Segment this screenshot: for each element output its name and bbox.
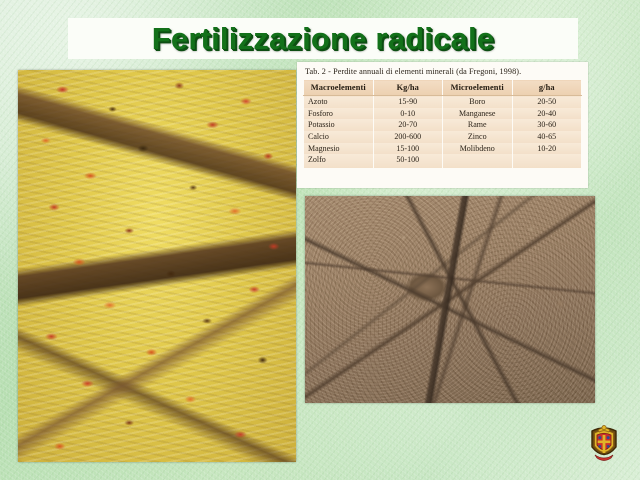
cell-macro: Calcio [304,131,374,143]
slide-canvas: Fertilizzazione radicale Tab. 2 - Perdit… [0,0,640,480]
table-row: Zolfo 50-100 [304,154,582,168]
cell-kgha: 200-600 [373,131,443,143]
cell-macro: Azoto [304,96,374,108]
column-header-macroelementi: Macroelementi [304,80,374,96]
autumn-trees-painting [18,70,296,462]
table-row: Magnesio 15-100 Molibdeno 10-20 [304,143,582,155]
table-header-row: Macroelementi Kg/ha Microelementi g/ha [304,80,582,96]
page-title: Fertilizzazione radicale [152,23,494,54]
table-row: Calcio 200-600 Zinco 40-65 [304,131,582,143]
column-header-gha: g/ha [512,80,582,96]
title-box: Fertilizzazione radicale [68,18,578,59]
cell-gha: 20-50 [512,96,582,108]
cell-micro: Rame [443,119,513,131]
cell-micro [443,154,513,168]
cell-kgha: 50-100 [373,154,443,168]
cell-macro: Fosforo [304,108,374,120]
cell-macro: Potassio [304,119,374,131]
cell-kgha: 15-100 [373,143,443,155]
cell-micro: Zinco [443,131,513,143]
column-header-kgha: Kg/ha [373,80,443,96]
cell-kgha: 20-70 [373,119,443,131]
table-caption: Tab. 2 - Perdite annuali di elementi min… [303,66,582,79]
cell-gha: 30-60 [512,119,582,131]
table-row: Potassio 20-70 Rame 30-60 [304,119,582,131]
cell-kgha: 0-10 [373,108,443,120]
cell-gha: 40-65 [512,131,582,143]
table-row: Azoto 15-90 Boro 20-50 [304,96,582,108]
cell-kgha: 15-90 [373,96,443,108]
cell-macro: Magnesio [304,143,374,155]
coat-of-arms-icon [588,424,620,464]
column-header-microelementi: Microelementi [443,80,513,96]
cell-micro: Manganese [443,108,513,120]
mineral-losses-table: Macroelementi Kg/ha Microelementi g/ha A… [303,79,582,168]
table-row: Fosforo 0-10 Manganese 20-40 [304,108,582,120]
cell-macro: Zolfo [304,154,374,168]
mineral-losses-table-card: Tab. 2 - Perdite annuali di elementi min… [297,62,588,188]
vine-roots-photo [305,196,595,403]
cell-micro: Boro [443,96,513,108]
cell-gha: 20-40 [512,108,582,120]
cell-micro: Molibdeno [443,143,513,155]
cell-gha: 10-20 [512,143,582,155]
cell-gha [512,154,582,168]
